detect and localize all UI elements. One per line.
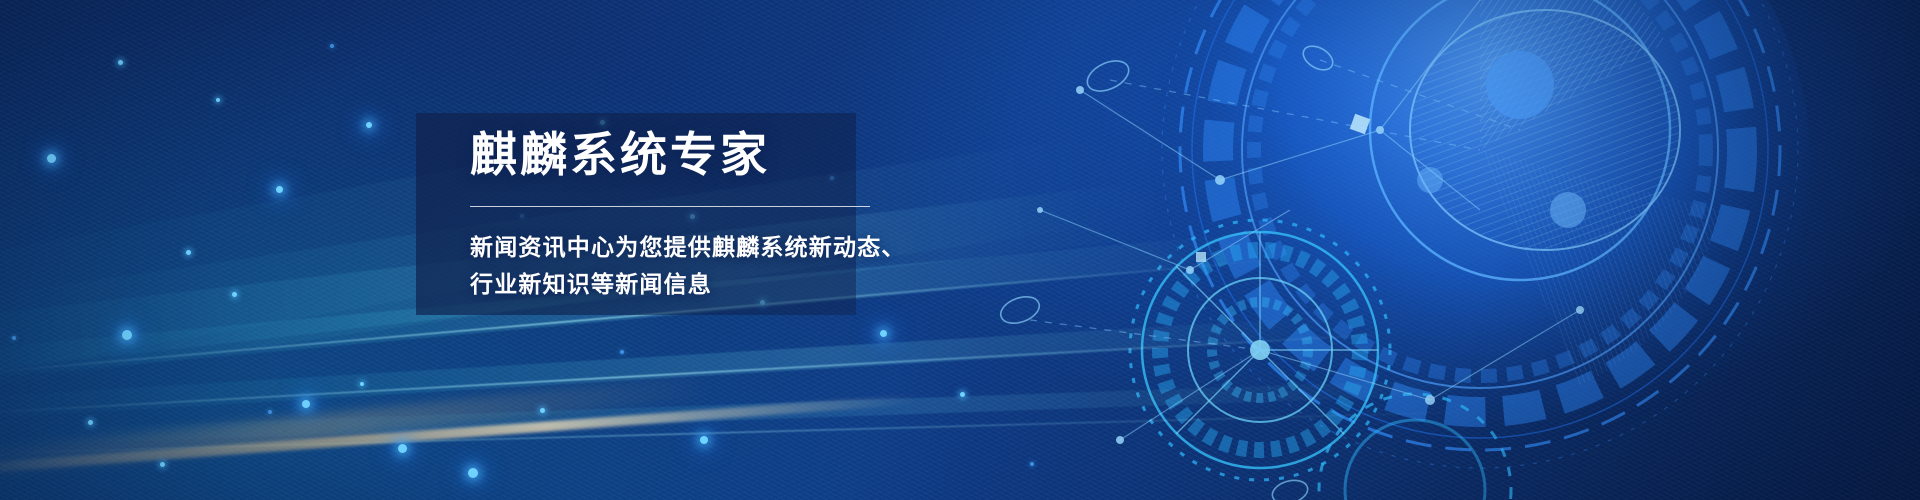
- title-divider: [470, 206, 870, 207]
- subtitle-line-2: 行业新知识等新闻信息: [470, 266, 990, 303]
- hero-copy: 麒麟系统专家 新闻资讯中心为您提供麒麟系统新动态、 行业新知识等新闻信息: [470, 128, 990, 303]
- subtitle-line-1: 新闻资讯中心为您提供麒麟系统新动态、: [470, 229, 990, 266]
- hero-subtitle: 新闻资讯中心为您提供麒麟系统新动态、 行业新知识等新闻信息: [470, 229, 990, 304]
- hero-banner: 麒麟系统专家 新闻资讯中心为您提供麒麟系统新动态、 行业新知识等新闻信息: [0, 0, 1920, 500]
- page-title: 麒麟系统专家: [470, 128, 990, 182]
